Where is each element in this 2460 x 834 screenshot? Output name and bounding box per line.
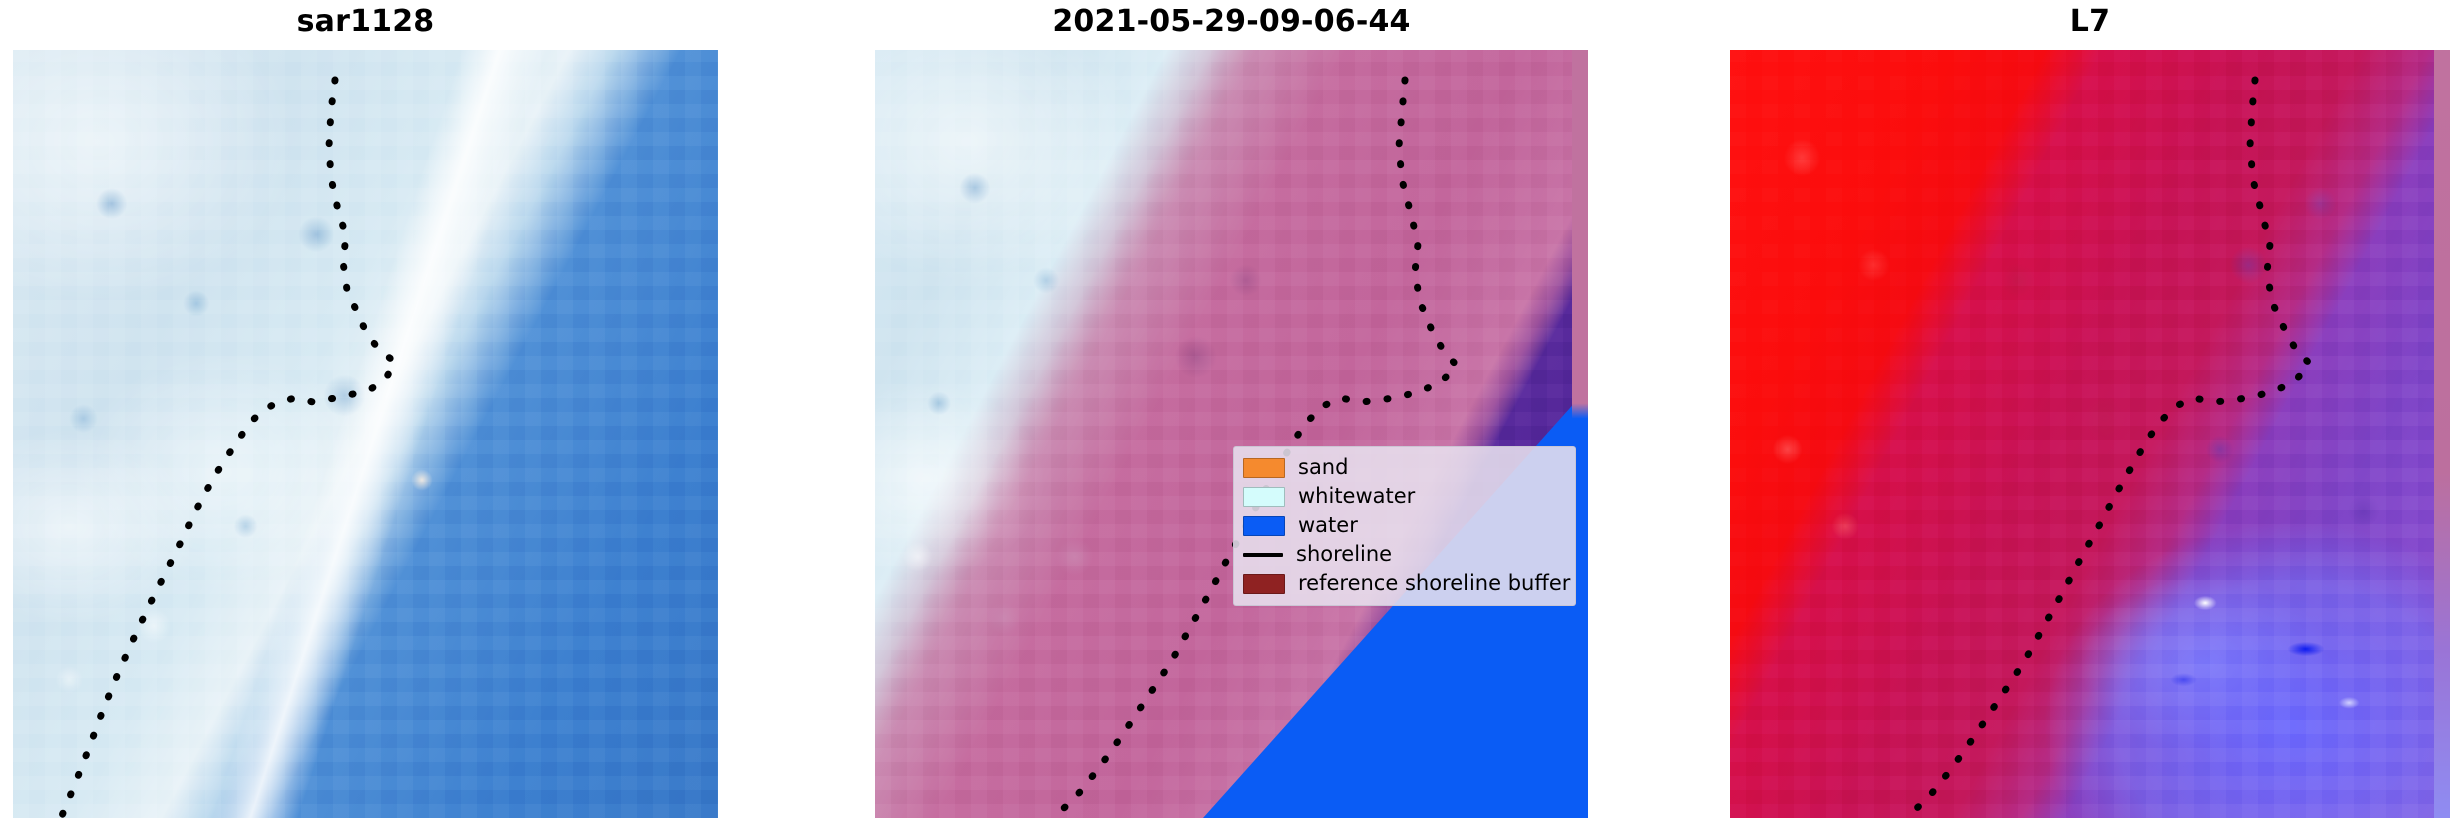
legend-swatch-sand	[1243, 458, 1285, 478]
legend-item-water: water	[1243, 511, 1567, 540]
legend-swatch-whitewater	[1243, 487, 1285, 507]
legend-item-shoreline: shoreline	[1243, 540, 1567, 569]
panel-title-1: sar1128	[13, 2, 718, 44]
panel2-right-edge-strip	[1572, 50, 1588, 818]
panel3-right-edge-strip	[2434, 50, 2450, 818]
legend-box[interactable]: sand whitewater water shoreline referenc…	[1233, 446, 1576, 606]
legend-item-reference-shoreline-buffer: reference shoreline buffer	[1243, 569, 1567, 598]
legend-item-sand: sand	[1243, 453, 1567, 482]
legend-item-whitewater: whitewater	[1243, 482, 1567, 511]
image-panel-classification[interactable]	[875, 50, 1588, 818]
legend-swatch-water	[1243, 516, 1285, 536]
legend-label-whitewater: whitewater	[1298, 486, 1415, 507]
legend-label-sand: sand	[1298, 457, 1348, 478]
legend-swatch-reference-shoreline-buffer	[1243, 574, 1285, 594]
panel1-surf-band	[13, 50, 718, 818]
image-panel-sar1128[interactable]	[13, 50, 718, 818]
legend-label-water: water	[1298, 515, 1358, 536]
figure-canvas: sar1128 2021-05-29-09-06-44 L7	[0, 0, 2460, 834]
panel-title-2: 2021-05-29-09-06-44	[875, 2, 1588, 44]
panel-title-3: L7	[1730, 2, 2450, 44]
legend-swatch-shoreline	[1243, 553, 1283, 557]
image-panel-l7[interactable]	[1730, 50, 2450, 818]
legend-label-shoreline: shoreline	[1296, 544, 1392, 565]
legend-label-reference-shoreline-buffer: reference shoreline buffer	[1298, 573, 1570, 594]
panel3-pixel-noise	[1730, 50, 2450, 818]
